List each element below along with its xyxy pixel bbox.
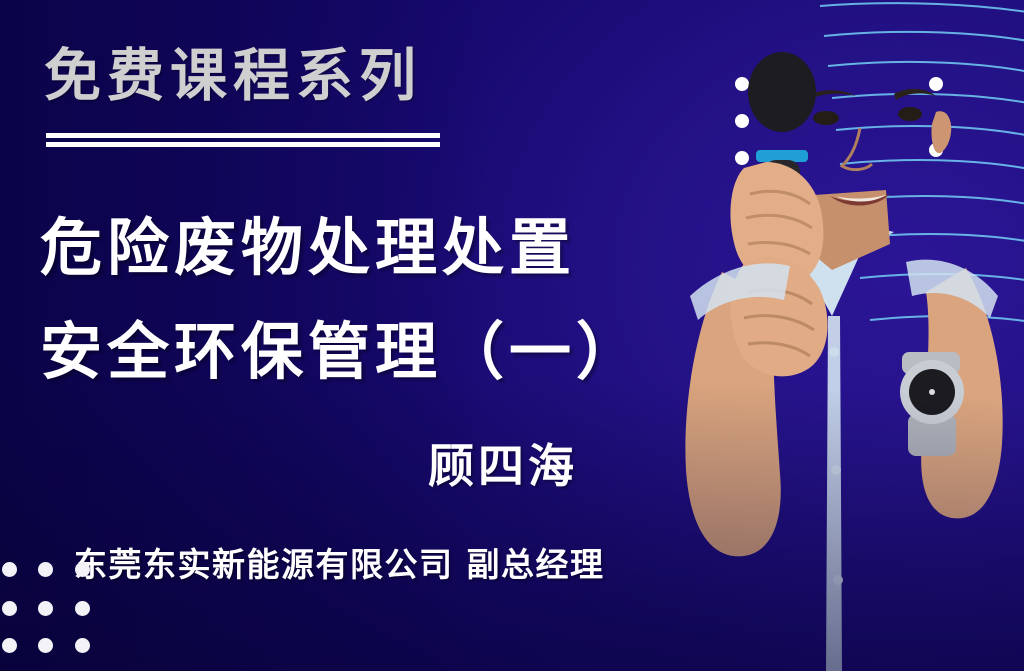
dot-grid-dot xyxy=(75,562,90,577)
title-line-2: 安全环保管理（一） xyxy=(40,300,643,404)
dot-grid-decoration xyxy=(0,556,110,666)
dot-grid-dot xyxy=(2,638,17,653)
dot-grid-dot xyxy=(75,638,90,653)
eyebrow-label: 免费课程系列 xyxy=(44,44,422,108)
dot-grid-dot xyxy=(38,638,53,653)
course-promo-poster: 免费课程系列 危险废物处理处置 安全环保管理（一） 顾四海 东莞东实新能源有限公… xyxy=(0,0,1024,671)
dot-grid-dot xyxy=(2,562,17,577)
divider-rule-top xyxy=(46,133,440,138)
speaker-affiliation: 东莞东实新能源有限公司 副总经理 xyxy=(74,538,605,586)
dot-grid-dot xyxy=(75,601,90,616)
divider-rules xyxy=(46,133,440,147)
dot-grid-dot xyxy=(38,601,53,616)
dot-grid-dot xyxy=(38,562,53,577)
speaker-name: 顾四海 xyxy=(428,430,578,496)
dot-grid-dot xyxy=(2,601,17,616)
page-title: 危险废物处理处置 安全环保管理（一） xyxy=(40,196,643,404)
divider-rule-bottom xyxy=(46,142,440,147)
title-line-1: 危险废物处理处置 xyxy=(40,196,643,300)
